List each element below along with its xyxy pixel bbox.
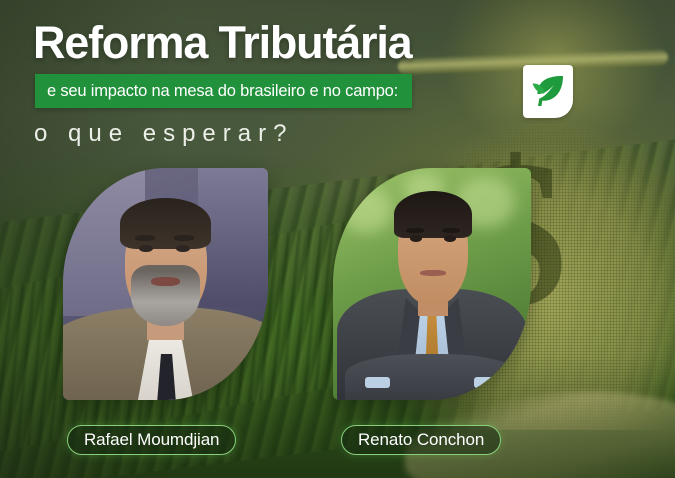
eyebrow-right — [174, 235, 195, 241]
speaker-name-badge-2: Renato Conchon — [341, 425, 501, 455]
page-title: Reforma Tributária — [33, 20, 412, 65]
bokeh-highlight — [341, 187, 392, 233]
question-text: o que esperar? — [34, 120, 293, 148]
mouth — [420, 270, 446, 276]
eyebrow-left — [135, 235, 156, 241]
speaker-name-label: Renato Conchon — [358, 430, 484, 450]
beard — [131, 265, 201, 325]
hair — [120, 198, 210, 249]
speaker-name-label: Rafael Moumdjian — [84, 430, 219, 450]
promo-poster: $ Reforma Tributária e seu impacto na me… — [0, 0, 675, 478]
subtitle-banner: e seu impacto na mesa do brasileiro e no… — [35, 74, 412, 108]
avatar — [333, 168, 531, 400]
cuff-left — [365, 377, 391, 389]
avatar — [63, 168, 268, 400]
mouth — [151, 277, 180, 286]
portrait-rafael-moumdjian — [63, 168, 268, 400]
leaf-badge-icon — [523, 65, 573, 118]
cuff-right — [474, 377, 500, 389]
portrait-renato-conchon — [333, 168, 531, 400]
subtitle-text: e seu impacto na mesa do brasileiro e no… — [47, 82, 398, 101]
speaker-name-badge-1: Rafael Moumdjian — [67, 425, 236, 455]
